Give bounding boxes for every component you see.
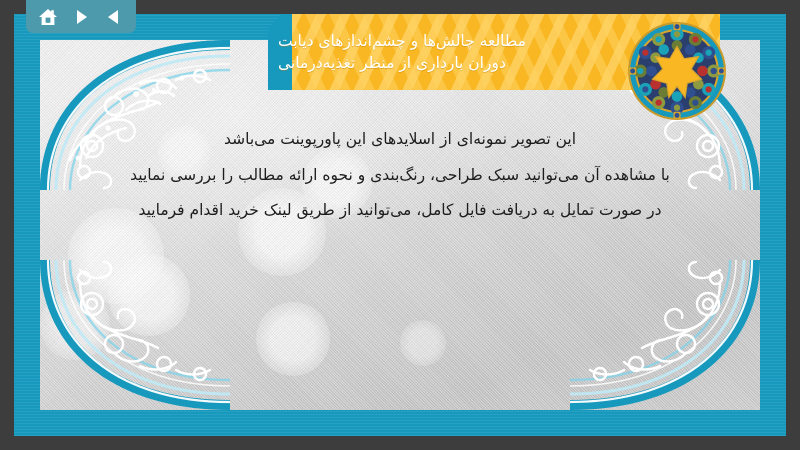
- prev-slide-button[interactable]: [101, 4, 127, 30]
- home-icon: [38, 7, 58, 27]
- slide-viewer: این تصویر نمونه‌ای از اسلایدهای این پاور…: [0, 0, 800, 450]
- body-line-2: با مشاهده آن می‌توانید سبک طراحی، رنگ‌بن…: [54, 168, 746, 184]
- title-line-2: دوران بارداری از منظر تغذیه‌درمانی: [278, 52, 506, 74]
- body-line-1: این تصویر نمونه‌ای از اسلایدهای این پاور…: [54, 132, 746, 148]
- body-line-3: در صورت تمایل به دریافت فایل کامل، می‌تو…: [54, 203, 746, 219]
- slide-body-text: این تصویر نمونه‌ای از اسلایدهای این پاور…: [54, 132, 746, 219]
- bokeh-circle: [256, 302, 330, 376]
- triangle-right-icon: [72, 8, 90, 26]
- title-line-1: مطالعه چالش‌ها و چشم‌اندازهای دیابت: [278, 30, 526, 52]
- bokeh-circle: [400, 320, 446, 366]
- home-button[interactable]: [35, 4, 61, 30]
- next-slide-button[interactable]: [68, 4, 94, 30]
- persian-medallion-icon: [626, 20, 728, 122]
- bokeh-circle: [40, 290, 110, 360]
- slide-navigation-bar: [26, 0, 136, 33]
- slide-title-banner: مطالعه چالش‌ها و چشم‌اندازهای دیابت دورا…: [268, 14, 720, 90]
- bokeh-circle: [108, 254, 190, 336]
- triangle-left-icon: [105, 8, 123, 26]
